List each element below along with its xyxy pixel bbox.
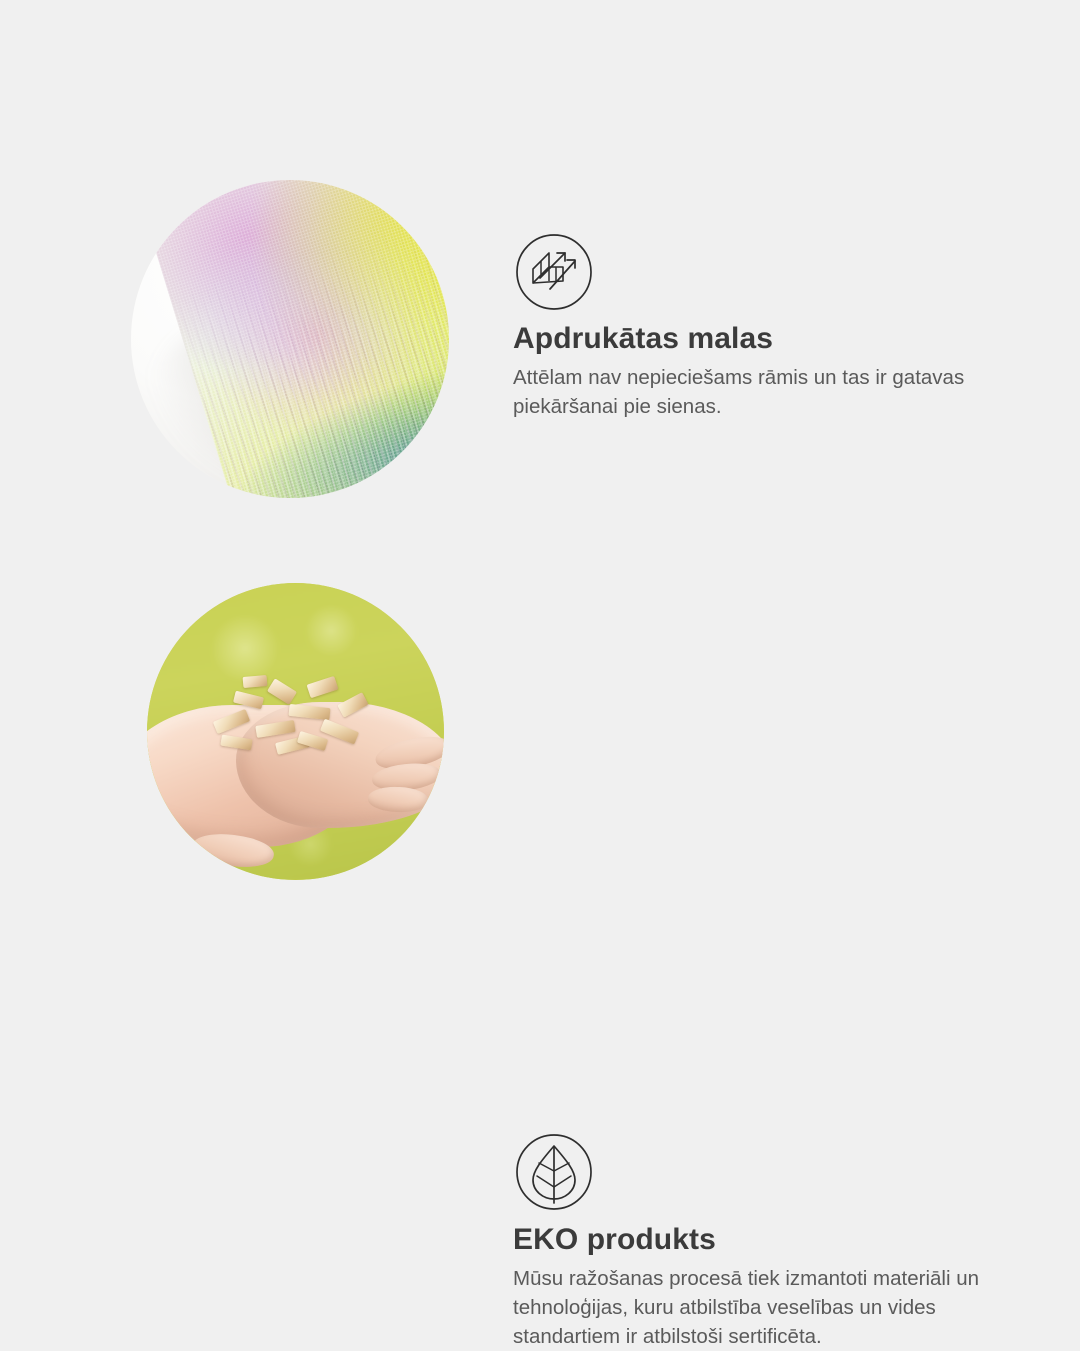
feature-title: Apdrukātas malas	[513, 322, 1013, 357]
wood-chip	[337, 693, 368, 718]
wood-chip	[213, 708, 250, 733]
wood-chip	[220, 734, 253, 750]
feature-title: EKO produkts	[513, 1223, 1013, 1258]
product-feature-infographic: Apdrukātas malas Attēlam nav nepieciešam…	[0, 0, 1080, 1080]
wood-chips-pile	[206, 672, 390, 773]
wood-chip	[255, 720, 295, 738]
wood-chip	[267, 679, 297, 705]
canvas-wrapped-edges-icon	[515, 233, 593, 311]
canvas-print-corner-photo	[131, 180, 449, 498]
wood-chip	[243, 675, 268, 688]
feature-block-eco-product: EKO produkts Mūsu ražošanas procesā tiek…	[0, 540, 1080, 1080]
wood-chip	[233, 691, 265, 710]
hands-holding-wood-chips-photo	[147, 583, 444, 880]
feature-description: Mūsu ražošanas procesā tiek izmantoti ma…	[513, 1264, 1013, 1351]
wood-chip	[306, 676, 338, 699]
feature-description: Attēlam nav nepieciešams rāmis un tas ir…	[513, 363, 1013, 421]
leaf-icon	[515, 1133, 593, 1211]
feature-text-printed-edges: Apdrukātas malas Attēlam nav nepieciešam…	[513, 322, 1013, 421]
feature-block-printed-edges: Apdrukātas malas Attēlam nav nepieciešam…	[0, 0, 1080, 540]
feature-text-eco-product: EKO produkts Mūsu ražošanas procesā tiek…	[513, 1223, 1013, 1351]
